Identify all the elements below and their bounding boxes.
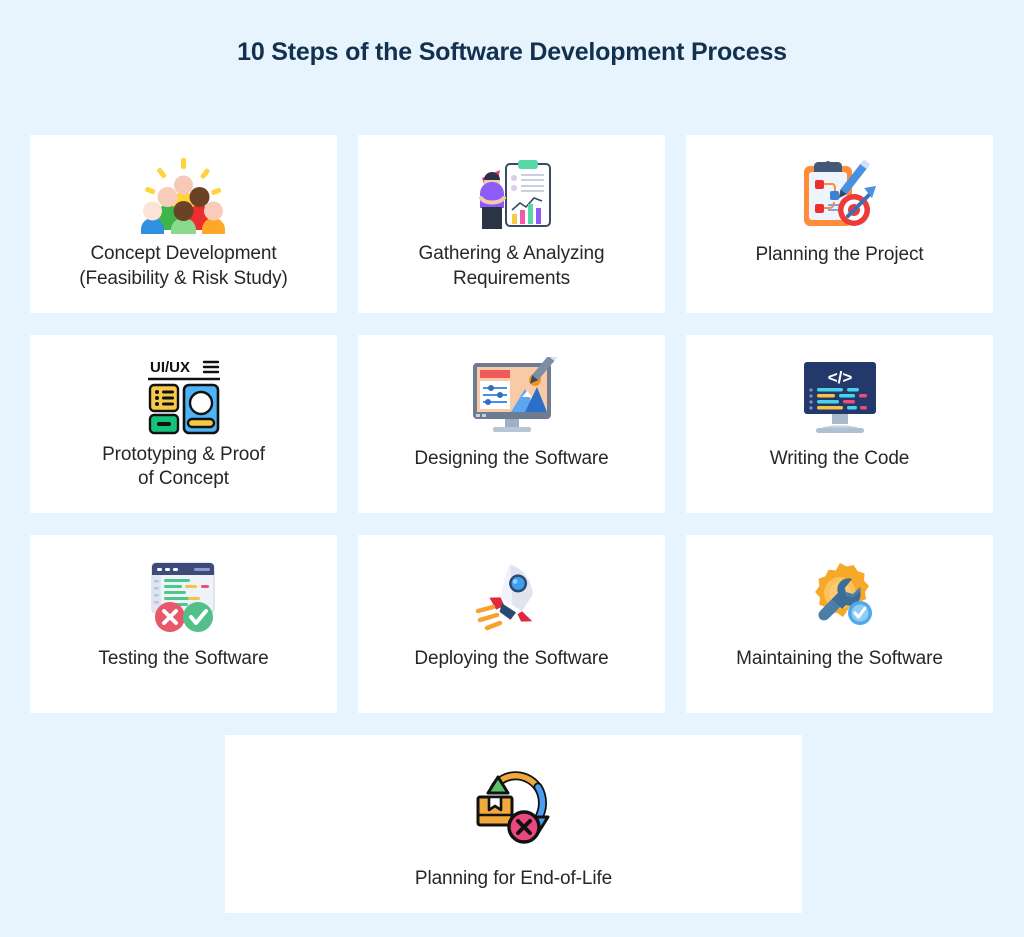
step-card-deploying-software[interactable]: Deploying the Software (358, 535, 665, 713)
step-label-line-1: Designing the Software (414, 447, 608, 471)
step-card-maintaining-software[interactable]: Maintaining the Software (686, 535, 993, 713)
step-label: Writing the Code (770, 447, 910, 471)
people-group-idea-icon (138, 155, 230, 234)
step-card-concept-development[interactable]: Concept Development (Feasibility & Risk … (30, 135, 337, 313)
step-label-line-1: Concept Development (79, 242, 288, 266)
rocket-launch-icon (470, 555, 554, 641)
gear-wrench-check-icon (800, 555, 880, 641)
step-label-line-2: of Concept (102, 467, 265, 491)
step-label: Planning the Project (755, 243, 923, 267)
step-label-line-1: Deploying the Software (414, 647, 608, 671)
svg-text:</>: </> (827, 368, 852, 387)
step-card-writing-code[interactable]: </> (686, 335, 993, 513)
step-label-line-1: Planning for End-of-Life (415, 867, 612, 891)
step-label-line-1: Writing the Code (770, 447, 910, 471)
monitor-design-canvas-icon (467, 355, 557, 439)
svg-text:UI/UX: UI/UX (150, 359, 190, 376)
steps-grid: Concept Development (Feasibility & Risk … (30, 135, 997, 913)
step-label-line-2: (Feasibility & Risk Study) (79, 267, 288, 291)
box-return-arrow-cancel-icon (472, 765, 556, 847)
step-card-end-of-life[interactable]: Planning for End-of-Life (225, 735, 802, 913)
steps-row-3: Testing the Software (30, 535, 997, 713)
step-card-designing-software[interactable]: Designing the Software (358, 335, 665, 513)
step-card-prototyping[interactable]: UI/UX (30, 335, 337, 513)
step-label: Planning for End-of-Life (415, 867, 612, 891)
page-title: 10 Steps of the Software Development Pro… (0, 38, 1024, 67)
step-label: Prototyping & Proof of Concept (102, 443, 265, 492)
step-label: Designing the Software (414, 447, 608, 471)
step-label: Concept Development (Feasibility & Risk … (79, 242, 288, 291)
step-label-line-1: Testing the Software (98, 647, 268, 671)
person-clipboard-chart-icon (470, 155, 554, 234)
ui-ux-wireframe-icon: UI/UX (142, 355, 226, 435)
step-label-line-1: Maintaining the Software (736, 647, 943, 671)
step-card-gathering-requirements[interactable]: Gathering & Analyzing Requirements (358, 135, 665, 313)
steps-row-4: Planning for End-of-Life (30, 735, 997, 913)
step-card-testing-software[interactable]: Testing the Software (30, 535, 337, 713)
step-label: Deploying the Software (414, 647, 608, 671)
step-label: Gathering & Analyzing Requirements (419, 242, 605, 291)
infographic-page: 10 Steps of the Software Development Pro… (0, 0, 1024, 937)
browser-pass-fail-icon (142, 555, 226, 641)
step-label: Maintaining the Software (736, 647, 943, 671)
step-label: Testing the Software (98, 647, 268, 671)
step-card-planning-project[interactable]: Planning the Project (686, 135, 993, 313)
monitor-code-brackets-icon: </> (800, 355, 880, 439)
clipboard-target-pencil-icon (800, 155, 880, 235)
steps-row-1: Concept Development (Feasibility & Risk … (30, 135, 997, 313)
step-label-line-1: Prototyping & Proof (102, 443, 265, 467)
step-label-line-2: Requirements (419, 267, 605, 291)
step-label-line-1: Planning the Project (755, 243, 923, 267)
step-label-line-1: Gathering & Analyzing (419, 242, 605, 266)
steps-row-2: UI/UX (30, 335, 997, 513)
